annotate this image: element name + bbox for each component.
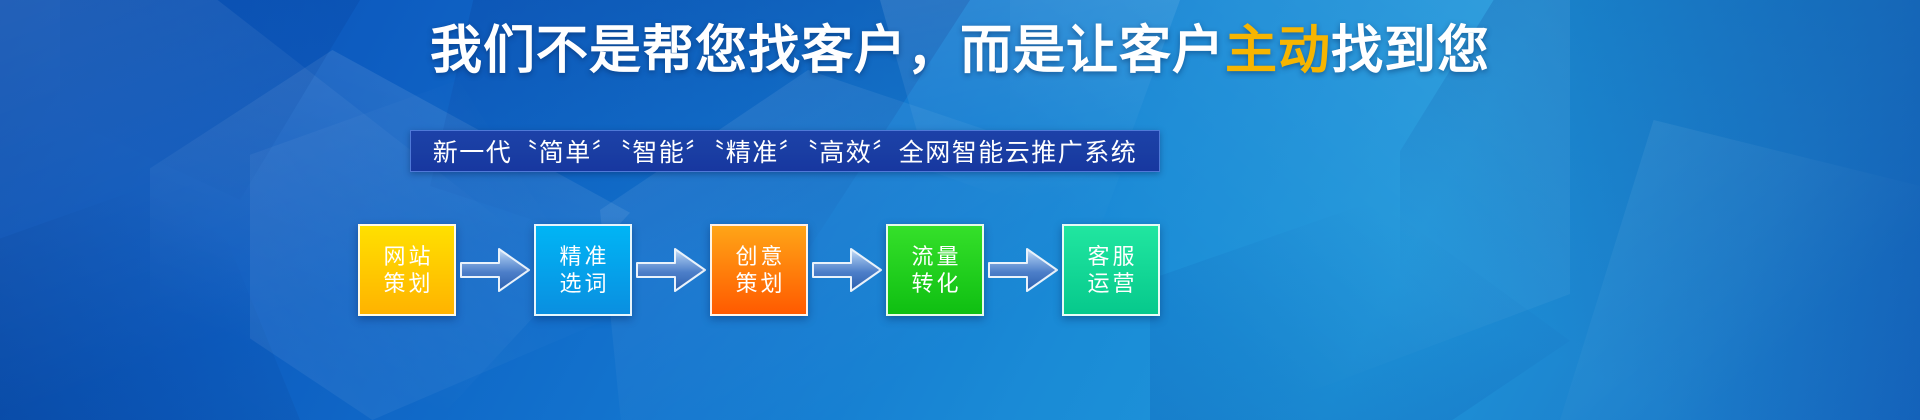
flow-step-label-line1: 精准 — [556, 243, 609, 271]
subtitle-text: 新一代〝简单〞〝智能〞〝精准〞〝高效〞全网智能云推广系统 — [433, 133, 1138, 169]
flow-arrow-icon-2 — [632, 224, 710, 316]
process-flow: 网站策划 精准选词 创意策划 — [358, 224, 1222, 316]
flow-step-label-line1: 流量 — [908, 243, 961, 271]
flow-step-label-line2: 运营 — [1084, 270, 1137, 298]
right-chevron-arrow-glyph — [459, 245, 531, 295]
right-chevron-arrow-glyph — [811, 245, 883, 295]
flow-step-label-line2: 选词 — [556, 270, 609, 298]
flow-arrow-icon-3 — [808, 224, 886, 316]
headline-part-2: 找到您 — [1331, 22, 1490, 80]
promo-banner: 我们不是帮您找客户，而是让客户主动找到您 新一代〝简单〞〝智能〞〝精准〞〝高效〞… — [0, 0, 1920, 420]
flow-step-5[interactable]: 客服运营 — [1062, 224, 1160, 316]
flow-step-1[interactable]: 网站策划 — [358, 224, 456, 316]
flow-step-2[interactable]: 精准选词 — [534, 224, 632, 316]
right-chevron-arrow-glyph — [987, 245, 1059, 295]
flow-step-label-line1: 创意 — [732, 243, 785, 271]
background-facet-3 — [0, 168, 300, 420]
headline-highlight: 主动 — [1225, 22, 1331, 80]
flow-arrow-icon-4 — [984, 224, 1062, 316]
flow-step-label-line1: 客服 — [1084, 243, 1137, 271]
flow-step-4[interactable]: 流量转化 — [886, 224, 984, 316]
flow-step-3[interactable]: 创意策划 — [710, 224, 808, 316]
headline: 我们不是帮您找客户，而是让客户主动找到您 — [0, 22, 1920, 82]
background-facet-8 — [1560, 120, 1920, 420]
flow-step-label-line2: 策划 — [380, 270, 433, 298]
flow-step-label-line2: 转化 — [908, 270, 961, 298]
subtitle-bar: 新一代〝简单〞〝智能〞〝精准〞〝高效〞全网智能云推广系统 — [410, 130, 1160, 172]
flow-step-label-line2: 策划 — [732, 270, 785, 298]
flow-step-label-line1: 网站 — [380, 243, 433, 271]
flow-arrow-icon-1 — [456, 224, 534, 316]
right-chevron-arrow-glyph — [635, 245, 707, 295]
headline-part-1: 我们不是帮您找客户，而是让客户 — [430, 22, 1225, 80]
